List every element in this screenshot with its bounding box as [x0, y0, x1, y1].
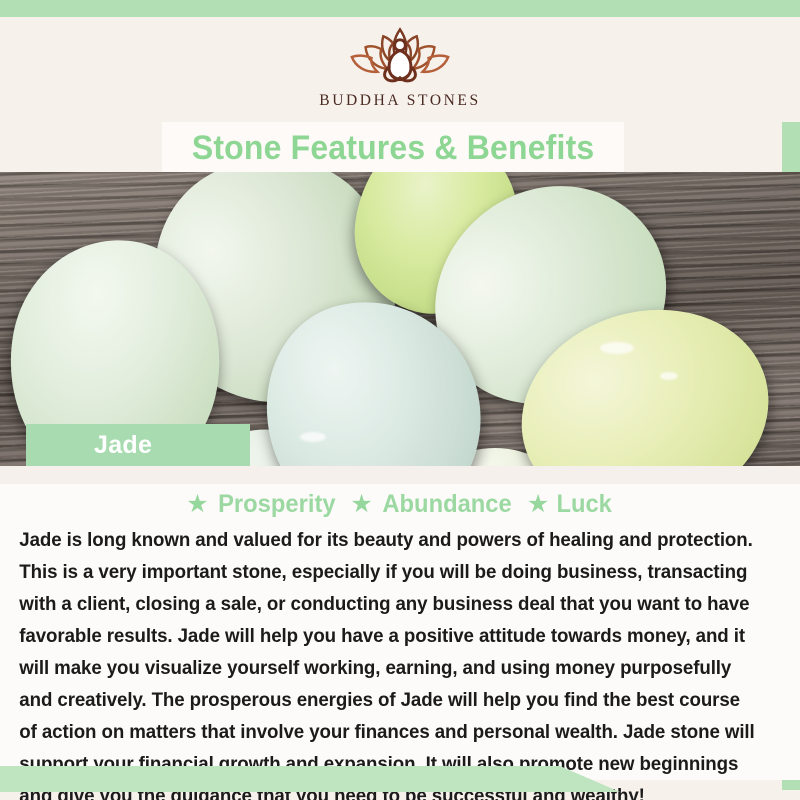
stone-glint-1: [300, 432, 326, 442]
decorative-top-green-bar: [0, 0, 800, 17]
star-icon: ★: [350, 492, 372, 517]
benefit-item-luck: ★ Luck: [527, 490, 614, 519]
benefit-item-prosperity: ★ Prosperity: [186, 490, 338, 519]
stone-description: Jade is long known and valued for its be…: [0, 522, 772, 800]
page-title: Stone Features & Benefits: [192, 129, 595, 168]
stone-photo: [0, 172, 800, 466]
body-top-cream-band: [0, 466, 800, 484]
benefit-label: Prosperity: [218, 490, 335, 519]
page-title-band: Stone Features & Benefits: [162, 122, 624, 174]
brand-header: BUDDHA STONES: [0, 17, 800, 122]
body-section: ★ Prosperity ★ Abundance ★ Luck Jade is …: [0, 484, 800, 780]
decorative-bottom-green-bar: [0, 766, 620, 792]
star-icon: ★: [527, 492, 549, 517]
stone-name-tag: Jade: [26, 424, 250, 466]
lotus-meditation-icon: [341, 24, 459, 90]
stone-glint-3: [660, 372, 678, 380]
benefit-label: Luck: [557, 490, 612, 519]
benefit-item-abundance: ★ Abundance: [350, 490, 515, 519]
stone-glint-2: [600, 342, 634, 354]
brand-name: BUDDHA STONES: [319, 92, 480, 110]
benefit-label: Abundance: [382, 490, 511, 519]
benefits-list: ★ Prosperity ★ Abundance ★ Luck: [0, 484, 800, 522]
stone-name: Jade: [26, 431, 152, 460]
brand-logo: BUDDHA STONES: [319, 17, 480, 110]
poster-root: BUDDHA STONES Stone Features & Benefits …: [0, 0, 800, 800]
star-icon: ★: [186, 492, 208, 517]
